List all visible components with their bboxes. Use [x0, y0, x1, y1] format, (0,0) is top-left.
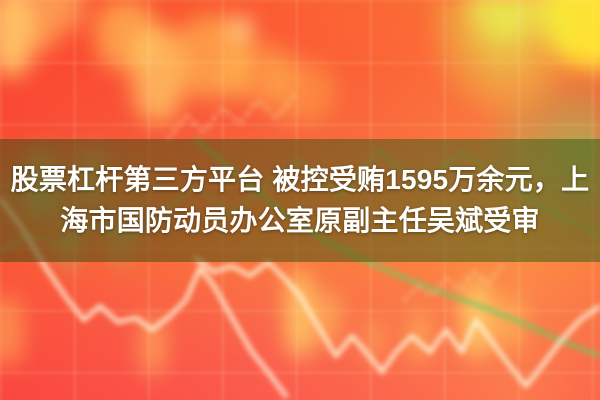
news-thumbnail: 股票杠杆第三方平台 被控受贿1595万余元，上 海市国防动员办公室原副主任吴斌受…	[0, 0, 600, 400]
headline-line-2: 海市国防动员办公室原副主任吴斌受审	[60, 203, 539, 240]
headline-line-1: 股票杠杆第三方平台 被控受贿1595万余元，上	[11, 162, 590, 199]
dotted-trend-line	[168, 96, 294, 140]
headline: 股票杠杆第三方平台 被控受贿1595万余元，上 海市国防动员办公室原副主任吴斌受…	[0, 139, 600, 262]
